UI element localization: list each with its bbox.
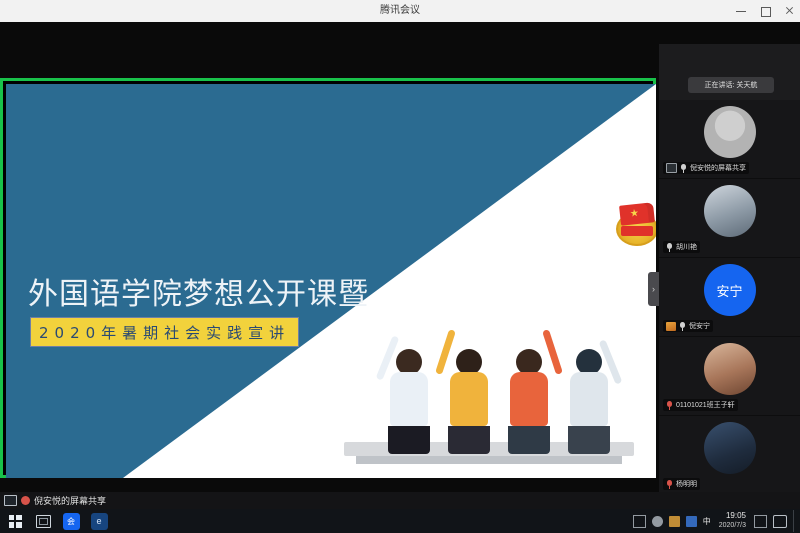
avatar <box>704 185 756 237</box>
title-bar: 腾讯会议 <box>0 0 800 23</box>
active-speaker-label: 正在讲话: 关天航 <box>705 80 758 90</box>
microphone-icon <box>679 322 686 331</box>
thumbnail-icon <box>666 322 676 331</box>
start-button[interactable] <box>4 511 26 531</box>
person-icon <box>21 496 30 505</box>
clock-date: 2020/7/3 <box>719 521 746 531</box>
browser-app-icon: e <box>91 513 108 530</box>
participant-name: 倪安宁 <box>689 321 710 331</box>
figure-3 <box>508 349 550 454</box>
tray-circle-icon[interactable] <box>652 516 663 527</box>
active-speaker-badge: 正在讲话: 关天航 <box>688 77 774 93</box>
tray-grid-icon[interactable] <box>633 515 646 528</box>
share-status-bar: 倪安悦的屏幕共享 <box>0 492 800 509</box>
show-desktop-button[interactable] <box>793 510 798 532</box>
participant-tile[interactable]: 安宁 倪安宁 <box>659 258 800 337</box>
minimize-button[interactable] <box>734 4 748 18</box>
participant-name-row: 杨明明 <box>663 478 700 490</box>
participant-name-row: 01101021班王子轩 <box>663 399 738 411</box>
task-view-button[interactable] <box>32 511 54 531</box>
participant-tile[interactable]: 倪安悦的屏幕共享 <box>659 100 800 179</box>
avatar <box>704 106 756 158</box>
screen-share-icon <box>666 163 677 173</box>
avatar <box>704 343 756 395</box>
shared-screen-frame: 外国语学院梦想公开课暨 2020年暑期社会实践宣讲 ★ <box>0 78 656 478</box>
participant-tile[interactable]: 杨明明 <box>659 416 800 495</box>
window-controls <box>734 0 796 22</box>
sidebar-collapse-handle[interactable]: › <box>648 272 659 306</box>
slide-subtitle: 2020年暑期社会实践宣讲 <box>39 322 290 343</box>
figure-4 <box>568 349 610 454</box>
close-button[interactable] <box>782 4 796 18</box>
participant-name: 倪安悦的屏幕共享 <box>690 163 746 173</box>
task-view-icon <box>36 515 51 528</box>
participant-name-row: 倪安悦的屏幕共享 <box>663 162 749 174</box>
microphone-muted-icon <box>666 401 673 410</box>
microphone-icon <box>680 164 687 173</box>
taskbar-app-meeting[interactable]: 会 <box>60 511 82 531</box>
microphone-icon <box>666 243 673 252</box>
microphone-muted-icon <box>666 480 673 489</box>
tray-blue-icon[interactable] <box>686 516 697 527</box>
taskbar-app-browser[interactable]: e <box>88 511 110 531</box>
taskbar-tray-group: 中 19:05 2020/7/3 <box>633 509 798 533</box>
participants-sidebar: 正在讲话: 关天航 倪安悦的屏幕共享 胡川艳 <box>659 44 800 514</box>
windows-start-icon <box>9 515 22 528</box>
monitor-icon <box>4 495 17 506</box>
avatar-initials: 安宁 <box>704 264 756 316</box>
window-title: 腾讯会议 <box>0 0 800 22</box>
tray-orange-icon[interactable] <box>669 516 680 527</box>
presentation-slide: 外国语学院梦想公开课暨 2020年暑期社会实践宣讲 ★ <box>6 84 656 478</box>
participant-name-row: 倪安宁 <box>663 320 713 332</box>
slide-title: 外国语学院梦想公开课暨 <box>28 269 369 313</box>
participant-tile[interactable]: 01101021班王子轩 <box>659 337 800 416</box>
clock-time: 19:05 <box>726 511 746 521</box>
avatar: 安宁 <box>704 264 756 316</box>
participant-tiles: 倪安悦的屏幕共享 胡川艳 安宁 <box>659 100 800 495</box>
slide-illustration-figures <box>336 314 646 478</box>
meeting-stage: 外国语学院梦想公开课暨 2020年暑期社会实践宣讲 ★ <box>0 22 800 492</box>
clock[interactable]: 19:05 2020/7/3 <box>719 511 746 531</box>
avatar <box>704 422 756 474</box>
participant-name-row: 胡川艳 <box>663 241 700 253</box>
ime-indicator[interactable]: 中 <box>703 516 711 527</box>
meeting-app-icon: 会 <box>63 513 80 530</box>
figure-1 <box>388 349 430 454</box>
taskbar-left-group: 会 e <box>0 509 110 533</box>
slide-subtitle-band: 2020年暑期社会实践宣讲 <box>30 317 299 347</box>
participant-name: 01101021班王子轩 <box>676 400 735 410</box>
figure-2 <box>448 349 490 454</box>
participant-name: 杨明明 <box>676 479 697 489</box>
share-status-text: 倪安悦的屏幕共享 <box>34 494 106 507</box>
participant-tile[interactable]: 胡川艳 <box>659 179 800 258</box>
volume-icon[interactable] <box>754 515 767 528</box>
participant-name: 胡川艳 <box>676 242 697 252</box>
communist-youth-league-emblem-icon: ★ <box>614 202 656 248</box>
maximize-button[interactable] <box>758 4 772 18</box>
notification-center-icon[interactable] <box>773 515 787 528</box>
windows-taskbar: 会 e 中 19:05 2020/7/3 <box>0 509 800 533</box>
meeting-app-window: 腾讯会议 外国语学院梦想公开课暨 2020年暑期社会实践宣讲 ★ <box>0 0 800 533</box>
